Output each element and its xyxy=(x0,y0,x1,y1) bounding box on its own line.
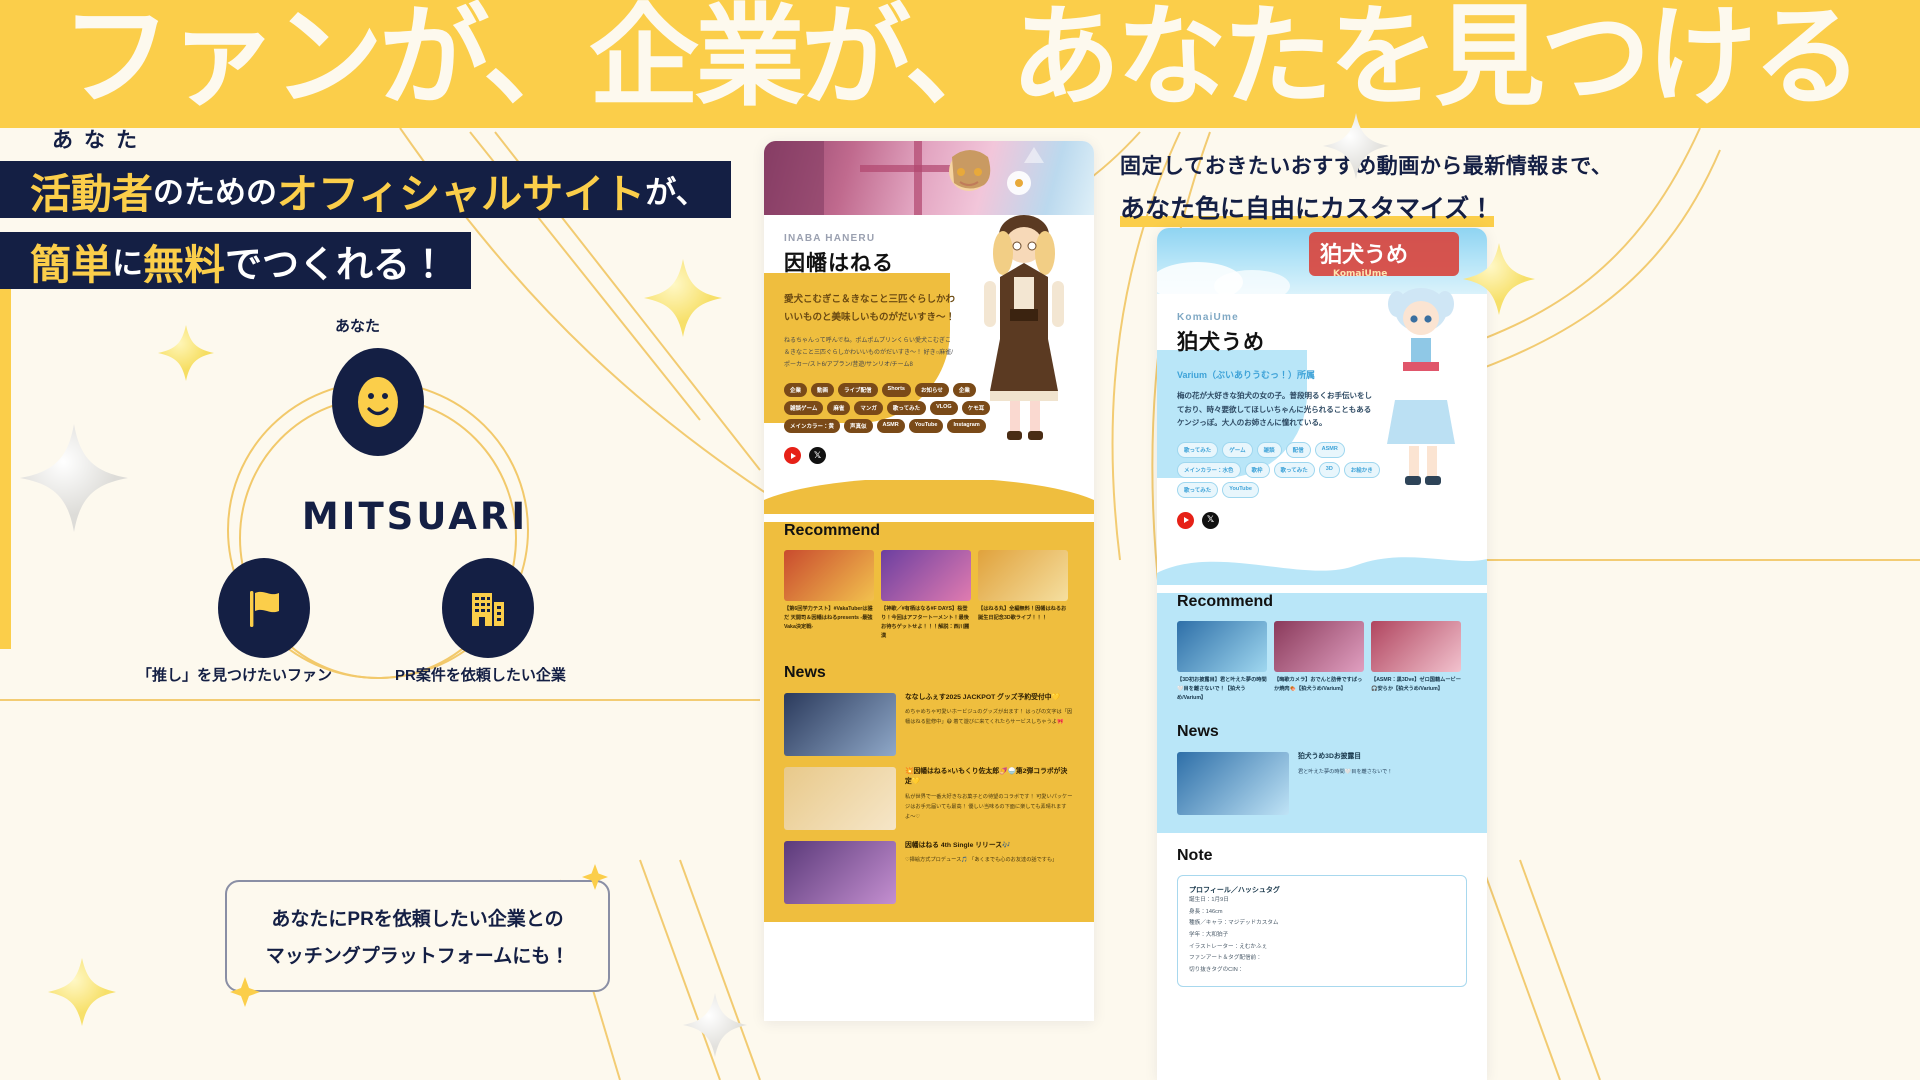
card-b-note-section: Note プロフィール／ハッシュタグ 誕生日：1月9日身長：146cm種族／キャ… xyxy=(1157,833,1487,1003)
card-b-news-list[interactable]: 狛犬うめ3Dお披露目君と叶えた夢の時間🤍目を離さないで！ xyxy=(1177,752,1467,815)
recommend-card[interactable]: 【晦歌カメラ】おでんと肋骨ですばっか焼肉🍖【狛犬うめ/Varium】 xyxy=(1274,621,1364,703)
ecosystem-diagram: あなた MITSUARI 「推し」を見つけたいファン xyxy=(150,300,670,720)
tag-chip[interactable]: ケモ耳 xyxy=(962,401,991,415)
bubble-line-1: あなたにPRを依頼したい企業との xyxy=(271,904,563,931)
building-icon xyxy=(465,585,511,631)
tag-chip[interactable]: ライブ配信 xyxy=(838,383,878,397)
hero-headline: ファンが、企業が、あなたを見つける xyxy=(0,0,1920,128)
card-b-note-lines: 誕生日：1月9日身長：146cm種族／キャラ：マジデッドカスタム学年：大和狛子イ… xyxy=(1189,895,1455,977)
tag-chip[interactable]: YouTube xyxy=(909,419,944,433)
tag-chip[interactable]: 歌ってみた xyxy=(1177,442,1218,458)
site-mockup-haneru[interactable]: INABA HANERU 因幡はねる 愛犬こむぎこ＆きなこと三匹ぐらしかわいいも… xyxy=(764,141,1094,1021)
card-b-affiliation: Varium（ぶいありうむっ！）所属 xyxy=(1177,368,1467,381)
star-decoration-yellow-bottomleft xyxy=(45,955,119,1029)
card-b-body: KomaiUme 狛犬うめ Varium（ぶいありうむっ！）所属 梅の花が大好き… xyxy=(1157,294,1487,529)
left-kicker: あなた xyxy=(52,124,148,154)
card-a-wave-divider xyxy=(764,480,1094,514)
news-text: 💥因幡はねる×いもくり佐太郎🍠🍚第2弾コラボが決定💛私が世界で一番大好きなお菓子… xyxy=(905,767,1074,830)
tag-chip[interactable]: マンガ xyxy=(854,401,883,415)
star-decoration-yellow-medium xyxy=(640,255,726,341)
tag-chip[interactable]: 麻雀 xyxy=(827,401,850,415)
smiley-face-icon xyxy=(355,374,401,430)
news-text: 狛犬うめ3Dお披露目君と叶えた夢の時間🤍目を離さないで！ xyxy=(1298,752,1467,815)
bar1-seg3: オフィシャルサイト xyxy=(277,160,645,220)
tag-chip[interactable]: 企業 xyxy=(953,383,976,397)
recommend-caption: 【神歌／#有栖はなる#F DAYS】桜登り！今回はアフタートーメント！最後お待ち… xyxy=(881,605,971,641)
right-heading-line-2: あなた色に自由にカスタマイズ！ xyxy=(1120,189,1494,227)
tag-chip[interactable]: ASMR xyxy=(877,419,905,433)
news-thumbnail xyxy=(784,693,896,756)
recommend-thumbnail xyxy=(881,550,971,601)
card-a-recommend-thumbs[interactable]: 【第6回学力テスト】#VakaTuberは誰だ 天開司＆因幡はねるpresent… xyxy=(784,550,1074,641)
youtube-icon[interactable] xyxy=(784,447,801,464)
card-a-news-heading: News xyxy=(784,664,1074,682)
recommend-caption: 【晦歌カメラ】おでんと肋骨ですばっか焼肉🍖【狛犬うめ/Varium】 xyxy=(1274,676,1364,694)
recommend-thumbnail xyxy=(1274,621,1364,672)
star-sparkle-bubble-left xyxy=(228,975,262,1009)
site-mockup-ume[interactable]: 狛犬うめ KomaiUme xyxy=(1157,228,1487,1080)
recommend-thumbnail xyxy=(978,550,1068,601)
recommend-thumbnail xyxy=(1177,621,1267,672)
recommend-thumbnail xyxy=(784,550,874,601)
note-line: ファンアート＆タグ配信前： xyxy=(1189,953,1455,965)
diagram-label-you: あなた xyxy=(335,315,380,336)
card-a-bio: ねるちゃんって呼んでね。ポムポムプリンくらい愛犬こむぎこ＆きなこと三匹ぐらしかわ… xyxy=(784,335,956,371)
recommend-card[interactable]: 【神歌／#有栖はなる#F DAYS】桜登り！今回はアフタートーメント！最後お待ち… xyxy=(881,550,971,641)
card-b-eyebrow: KomaiUme xyxy=(1177,312,1467,323)
card-a-tagline: 愛犬こむぎこ＆きなこと三匹ぐらしかわいいものと美味しいものがだいすき〜！ xyxy=(784,291,956,326)
star-decoration-white-large xyxy=(14,418,134,538)
news-thumbnail xyxy=(1177,752,1289,815)
star-decoration-yellow-right xyxy=(1460,240,1538,318)
recommend-caption: 【ASMR：黒3Dve】ゼロ国籍ムービー🎧安らか【狛犬うめ/Varium】 xyxy=(1371,676,1461,694)
tag-chip[interactable]: 歌ってみた xyxy=(887,401,926,415)
matching-callout-bubble: あなたにPRを依頼したい企業との マッチングプラットフォームにも！ xyxy=(225,880,610,992)
tag-chip[interactable]: 歌枠 xyxy=(1245,462,1270,478)
tag-chip[interactable]: お知らせ xyxy=(915,383,949,397)
news-thumbnail xyxy=(784,767,896,830)
tag-chip[interactable]: メインカラー：水色 xyxy=(1177,462,1241,478)
card-a-eyebrow: INABA HANERU xyxy=(784,233,1074,244)
card-b-news-heading: News xyxy=(1177,723,1467,741)
card-b-note-title: プロフィール／ハッシュタグ xyxy=(1189,885,1455,895)
news-text: ななしふぇす2025 JACKPOT グッズ予約受付中💛めちゃめちゃ可愛いホービ… xyxy=(905,693,1074,756)
news-description: ♡挿絵方式プロデュース🎵 「あくまでも心のお友達の話ですも」 xyxy=(905,856,1074,866)
card-a-recommend-heading: Recommend xyxy=(784,522,1074,540)
card-b-note-heading: Note xyxy=(1157,847,1487,865)
note-line: 切り抜きタグのCIN： xyxy=(1189,965,1455,977)
diagram-node-you xyxy=(332,348,424,456)
tag-chip[interactable]: 歌ってみた xyxy=(1177,482,1218,498)
star-sparkle-bubble-right xyxy=(580,862,610,892)
card-b-recommend-thumbs[interactable]: 【3D初お披露目】君と叶えた夢の時間🤍目を離さないで！【狛犬うめ/Varium】… xyxy=(1177,621,1467,703)
card-a-social-links[interactable]: 𝕏 xyxy=(784,447,1074,464)
svg-text:狛犬うめ: 狛犬うめ xyxy=(1319,242,1408,268)
news-text: 因幡はねる 4th Single リリース🎶♡挿絵方式プロデュース🎵 「あくまで… xyxy=(905,841,1074,904)
hero-headline-text: ファンが、企業が、あなたを見つける xyxy=(61,0,1859,122)
tag-chip[interactable]: 歌ってみた xyxy=(1274,462,1315,478)
recommend-caption: 【第6回学力テスト】#VakaTuberは誰だ 天開司＆因幡はねるpresent… xyxy=(784,605,874,632)
tag-chip[interactable]: ゲーム xyxy=(1222,442,1252,458)
poster-canvas: ファンが、企業が、あなたを見つける あなた 活動者 のための オフィシャルサイト… xyxy=(0,0,1920,1080)
card-b-recommend-section: Recommend 【3D初お披露目】君と叶えた夢の時間🤍目を離さないで！【狛犬… xyxy=(1157,593,1487,833)
diagram-node-corp xyxy=(442,558,534,658)
tag-chip[interactable]: お絵かき xyxy=(1344,462,1380,478)
left-accent-stripe xyxy=(0,289,11,649)
recommend-card[interactable]: 【第6回学力テスト】#VakaTuberは誰だ 天開司＆因幡はねるpresent… xyxy=(784,550,874,641)
news-item[interactable]: 因幡はねる 4th Single リリース🎶♡挿絵方式プロデュース🎵 「あくまで… xyxy=(784,841,1074,904)
tag-chip[interactable]: 動画 xyxy=(811,383,834,397)
flag-icon xyxy=(242,585,286,631)
bar2-seg4: でつくれる！ xyxy=(225,234,447,288)
recommend-card[interactable]: 【はねる丸】全編無料！因幡はねるお誕生日記念3D歌ライブ！！！ xyxy=(978,550,1068,641)
bar1-seg1: 活動者 xyxy=(30,160,153,220)
x-icon[interactable]: 𝕏 xyxy=(809,447,826,464)
note-line: 学年：大和狛子 xyxy=(1189,930,1455,942)
recommend-thumbnail xyxy=(1371,621,1461,672)
tag-chip[interactable]: 雑談ゲーム xyxy=(784,401,823,415)
card-b-tag-list: 歌ってみたゲーム雑談配信ASMRメインカラー：水色歌枠歌ってみた3Dお絵かき歌っ… xyxy=(1177,442,1407,498)
headline-bar-primary: 活動者 のための オフィシャルサイト が、 xyxy=(0,161,731,218)
bar2-seg1: 簡単 xyxy=(30,231,112,291)
brand-logo: MITSUARI xyxy=(255,490,575,542)
youtube-icon[interactable] xyxy=(1177,512,1194,529)
card-b-wave-divider xyxy=(1157,551,1487,585)
news-title: 因幡はねる 4th Single リリース🎶 xyxy=(905,841,1074,852)
card-b-bio: 梅の花が大好きな狛犬の女の子。普段明るくお手伝いをしており、時々要欲してほしいち… xyxy=(1177,389,1373,430)
recommend-caption: 【3D初お披露目】君と叶えた夢の時間🤍目を離さないで！【狛犬うめ/Varium】 xyxy=(1177,676,1267,703)
recommend-card[interactable]: 【3D初お披露目】君と叶えた夢の時間🤍目を離さないで！【狛犬うめ/Varium】 xyxy=(1177,621,1267,703)
card-b-note-box: プロフィール／ハッシュタグ 誕生日：1月9日身長：146cm種族／キャラ：マジデ… xyxy=(1177,875,1467,987)
headline-bar-secondary: 簡単 に 無料 でつくれる！ xyxy=(0,232,471,289)
news-thumbnail xyxy=(784,841,896,904)
card-a-name: 因幡はねる xyxy=(784,247,1074,277)
tag-chip[interactable]: 企業 xyxy=(784,383,807,397)
diagram-label-fan: 「推し」を見つけたいファン xyxy=(137,664,332,685)
tag-chip[interactable]: 配信 xyxy=(1286,442,1311,458)
card-a-tag-list: 企業動画ライブ配信Shortsお知らせ企業雑談ゲーム麻雀マンガ歌ってみたVLOG… xyxy=(784,383,1014,433)
tag-chip[interactable]: ASMR xyxy=(1315,442,1345,458)
tag-chip[interactable]: Shorts xyxy=(882,383,911,397)
tag-chip[interactable]: VLOG xyxy=(930,401,958,415)
card-b-social-links[interactable]: 𝕏 xyxy=(1177,512,1467,529)
diagram-label-corp: PR案件を依頼したい企業 xyxy=(395,664,566,685)
card-a-recommend-section: Recommend 【第6回学力テスト】#VakaTuberは誰だ 天開司＆因幡… xyxy=(764,522,1094,921)
news-description: 私が世界で一番大好きなお菓子との待望のコラボです！ 可愛いパッケージはお手元届い… xyxy=(905,793,1074,823)
bar2-seg3: 無料 xyxy=(143,231,225,291)
tag-chip[interactable]: 3D xyxy=(1319,462,1340,478)
card-b-name: 狛犬うめ xyxy=(1177,326,1467,356)
card-b-recommend-heading: Recommend xyxy=(1177,593,1467,611)
recommend-card[interactable]: 【ASMR：黒3Dve】ゼロ国籍ムービー🎧安らか【狛犬うめ/Varium】 xyxy=(1371,621,1461,703)
news-title: ななしふぇす2025 JACKPOT グッズ予約受付中💛 xyxy=(905,693,1074,704)
news-item[interactable]: 💥因幡はねる×いもくり佐太郎🍠🍚第2弾コラボが決定💛私が世界で一番大好きなお菓子… xyxy=(784,767,1074,830)
bar2-seg2: に xyxy=(112,238,143,283)
news-item[interactable]: 狛犬うめ3Dお披露目君と叶えた夢の時間🤍目を離さないで！ xyxy=(1177,752,1467,815)
tag-chip[interactable]: 声真似 xyxy=(844,419,873,433)
news-description: 君と叶えた夢の時間🤍目を離さないで！ xyxy=(1298,768,1467,778)
note-line: 種族／キャラ：マジデッドカスタム xyxy=(1189,918,1455,930)
tag-chip[interactable]: メインカラー：黄 xyxy=(784,419,840,433)
news-title: 狛犬うめ3Dお披露目 xyxy=(1298,752,1467,763)
tag-chip[interactable]: Instagram xyxy=(947,419,985,433)
news-title: 💥因幡はねる×いもくり佐太郎🍠🍚第2弾コラボが決定💛 xyxy=(905,767,1074,789)
diagram-node-fan xyxy=(218,558,310,658)
bar1-seg4: が、 xyxy=(645,167,706,212)
note-line: 誕生日：1月9日 xyxy=(1189,895,1455,907)
news-description: めちゃめちゃ可愛いホービジュのグッズが出ます！ はっぴの文字は「因幡はねる監修中… xyxy=(905,708,1074,728)
star-decoration-yellow-small xyxy=(155,322,217,384)
tag-chip[interactable]: 雑談 xyxy=(1257,442,1282,458)
bar1-seg2: のための xyxy=(153,167,277,212)
tag-chip[interactable]: YouTube xyxy=(1222,482,1259,498)
news-item[interactable]: ななしふぇす2025 JACKPOT グッズ予約受付中💛めちゃめちゃ可愛いホービ… xyxy=(784,693,1074,756)
x-icon[interactable]: 𝕏 xyxy=(1202,512,1219,529)
recommend-caption: 【はねる丸】全編無料！因幡はねるお誕生日記念3D歌ライブ！！！ xyxy=(978,605,1068,623)
card-a-body: INABA HANERU 因幡はねる 愛犬こむぎこ＆きなこと三匹ぐらしかわいいも… xyxy=(764,215,1094,464)
brand-logo-text: MITSUARI xyxy=(302,495,528,538)
card-a-news-list[interactable]: ななしふぇす2025 JACKPOT グッズ予約受付中💛めちゃめちゃ可愛いホービ… xyxy=(784,693,1074,904)
note-line: 身長：146cm xyxy=(1189,907,1455,919)
bubble-line-2: マッチングプラットフォームにも！ xyxy=(266,941,569,968)
note-line: イラストレーター：えむかふぇ xyxy=(1189,942,1455,954)
star-decoration-white-bottom xyxy=(680,990,750,1060)
star-decoration-white-top xyxy=(1320,110,1392,182)
